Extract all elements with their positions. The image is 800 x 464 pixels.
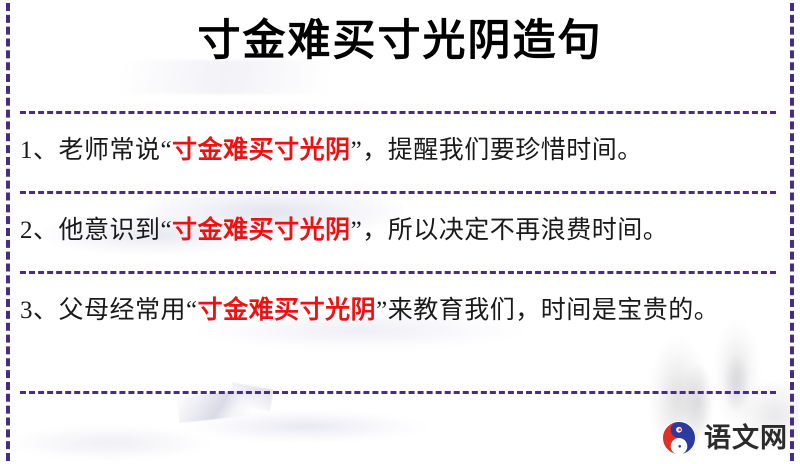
sentence-text-before: 老师常说“ — [59, 137, 173, 164]
idiom-highlight: 寸金难买寸光阴 — [172, 137, 351, 164]
list-item: 2、他意识到“寸金难买寸光阴”，所以决定不再浪费时间。 — [0, 191, 800, 271]
page-content: 寸金难买寸光阴造句 1、老师常说“寸金难买寸光阴”，提醒我们要珍惜时间。 2、他… — [0, 0, 800, 76]
wash-boat — [155, 400, 455, 448]
list-item: 3、父母经常用“寸金难买寸光阴”来教育我们，时间是宝贵的。 — [0, 271, 800, 391]
worksheet-page: 寸金难买寸光阴造句 1、老师常说“寸金难买寸光阴”，提醒我们要珍惜时间。 2、他… — [0, 0, 800, 464]
sentence-number: 2、 — [20, 217, 59, 244]
sentence-text-after: ”来教育我们，时间是宝贵的。 — [376, 297, 719, 324]
wash-haze-bottom-left — [0, 418, 240, 464]
sentence-list: 1、老师常说“寸金难买寸光阴”，提醒我们要珍惜时间。 2、他意识到“寸金难买寸光… — [0, 111, 800, 391]
idiom-highlight: 寸金难买寸光阴 — [172, 217, 351, 244]
sentence-text-before: 父母经常用“ — [59, 297, 198, 324]
sentence-number: 1、 — [20, 137, 59, 164]
sentence-number: 3、 — [20, 297, 59, 324]
list-item: 1、老师常说“寸金难买寸光阴”，提醒我们要珍惜时间。 — [0, 111, 800, 191]
divider-below-sentence-3 — [20, 391, 776, 394]
site-logo-text: 语文网 — [704, 425, 788, 452]
site-logo: 语文网 — [661, 420, 788, 456]
sentence-text-after: ”，提醒我们要珍惜时间。 — [351, 137, 643, 164]
sentence-text-after: ”，所以决定不再浪费时间。 — [351, 217, 669, 244]
sentence-text-before: 他意识到“ — [59, 217, 173, 244]
page-title: 寸金难买寸光阴造句 — [0, 0, 800, 76]
yinyang-emblem-icon — [661, 420, 697, 456]
idiom-highlight: 寸金难买寸光阴 — [198, 297, 377, 324]
